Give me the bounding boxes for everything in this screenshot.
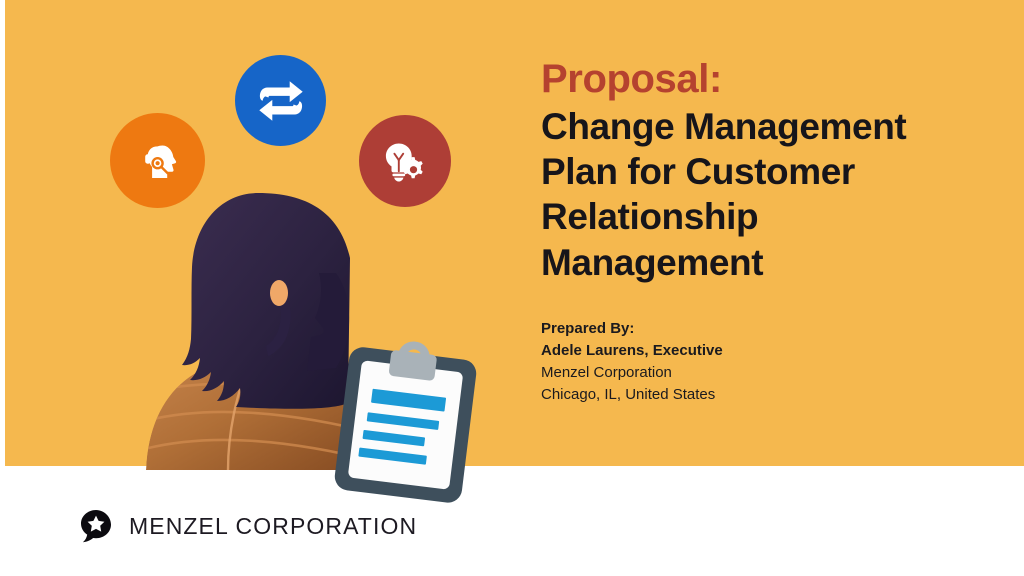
page-title: Change Management Plan for Customer Rela…	[541, 104, 981, 285]
title-block: Proposal: Change Management Plan for Cus…	[541, 58, 981, 285]
prepared-by-label: Prepared By:	[541, 318, 961, 340]
cycle-badge	[235, 55, 326, 146]
brand-name: MENZEL CORPORATION	[129, 513, 417, 540]
brand-lockup: MENZEL CORPORATION	[78, 508, 417, 544]
prepared-by-company: Menzel Corporation	[541, 362, 961, 384]
head-with-headset-and-magnifier-icon	[132, 135, 184, 187]
two-way-cycle-arrows-icon	[253, 75, 309, 127]
prepared-by-person: Adele Laurens, Executive	[541, 340, 961, 362]
lightbulb-and-gear-icon	[379, 135, 431, 187]
proposal-eyebrow: Proposal:	[541, 58, 981, 101]
clipboard-with-blue-text-lines-icon	[327, 333, 485, 509]
speech-bubble-star-logo	[78, 508, 114, 544]
presentation-slide: Proposal: Change Management Plan for Cus…	[0, 0, 1024, 576]
prepared-by-block: Prepared By: Adele Laurens, Executive Me…	[541, 318, 961, 406]
prepared-by-location: Chicago, IL, United States	[541, 384, 961, 406]
